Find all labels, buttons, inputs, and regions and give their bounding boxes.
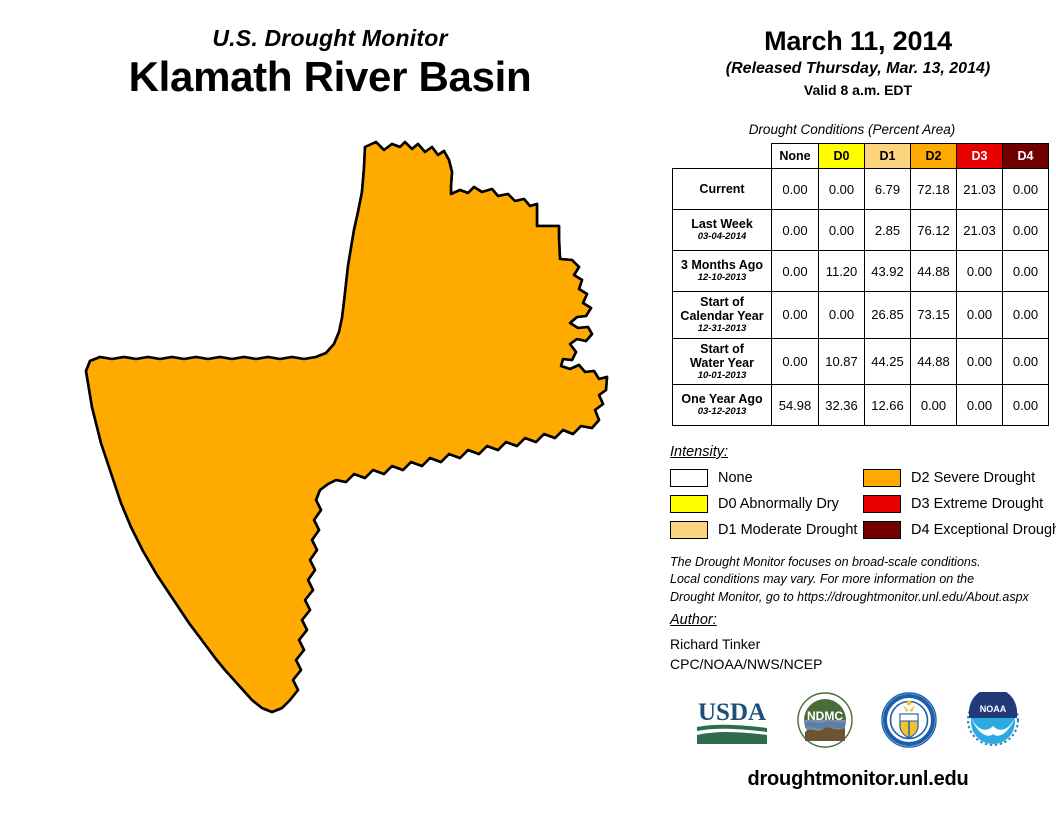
- row-label-text: 3 Months Ago: [681, 258, 763, 272]
- legend-item-d2: D2 Severe Drought: [863, 469, 1056, 487]
- swatch-d0-icon: [670, 495, 708, 513]
- legend-label-none: None: [718, 470, 753, 486]
- agency-logos: USDA NDMC: [660, 692, 1056, 748]
- row-label-text: Last Week: [691, 217, 753, 231]
- intensity-legend: None D2 Severe Drought D0 Abnormally Dry…: [670, 466, 1056, 544]
- report-date: March 11, 2014: [660, 26, 1056, 57]
- cell-3months-d1: 43.92: [865, 251, 911, 292]
- table-body: Current 0.00 0.00 6.79 72.18 21.03 0.00 …: [673, 169, 1049, 426]
- valid-time: Valid 8 a.m. EDT: [660, 82, 1056, 98]
- column-header-d3: D3: [957, 144, 1003, 169]
- row-label-date: 03-12-2013: [675, 407, 769, 418]
- legend-item-none: None: [670, 469, 863, 487]
- row-label-one-year-ago: One Year Ago 03-12-2013: [673, 385, 772, 426]
- usda-logo-icon: USDA: [695, 694, 769, 746]
- row-label-start-water-year: Start of Water Year 10-01-2013: [673, 338, 772, 385]
- cell-wateryear-d2: 44.88: [911, 338, 957, 385]
- cell-wateryear-d4: 0.00: [1003, 338, 1049, 385]
- klamath-map-render: [40, 120, 640, 730]
- cell-oneyear-none: 54.98: [772, 385, 819, 426]
- info-panel: March 11, 2014 (Released Thursday, Mar. …: [660, 0, 1056, 816]
- ndmc-logo-icon: NDMC: [797, 692, 853, 748]
- cell-current-d1: 6.79: [865, 169, 911, 210]
- table-row: Start of Calendar Year 12-31-2013 0.00 0…: [673, 292, 1049, 339]
- table-row: One Year Ago 03-12-2013 54.98 32.36 12.6…: [673, 385, 1049, 426]
- cell-calyear-d0: 0.00: [819, 292, 865, 339]
- ndmc-logo-text: NDMC: [807, 709, 843, 723]
- author-heading: Author:: [670, 612, 717, 628]
- legend-label-d3: D3 Extreme Drought: [911, 496, 1043, 512]
- row-label-3-months-ago: 3 Months Ago 12-10-2013: [673, 251, 772, 292]
- cell-oneyear-d0: 32.36: [819, 385, 865, 426]
- map-panel: U.S. Drought Monitor Klamath River Basin: [0, 0, 660, 816]
- klamath-basin-map: [40, 120, 640, 730]
- row-label-start-calendar-year: Start of Calendar Year 12-31-2013: [673, 292, 772, 339]
- row-label-current: Current: [673, 169, 772, 210]
- cell-3months-d3: 0.00: [957, 251, 1003, 292]
- row-label-last-week: Last Week 03-04-2014: [673, 210, 772, 251]
- cell-wateryear-none: 0.00: [772, 338, 819, 385]
- cell-oneyear-d2: 0.00: [911, 385, 957, 426]
- map-title-block: U.S. Drought Monitor Klamath River Basin: [0, 26, 660, 100]
- page-title: Klamath River Basin: [0, 53, 660, 100]
- cell-lastweek-none: 0.00: [772, 210, 819, 251]
- column-header-none: None: [772, 144, 819, 169]
- table-corner-cell: [673, 144, 772, 169]
- site-url[interactable]: droughtmonitor.unl.edu: [660, 768, 1056, 791]
- cell-3months-none: 0.00: [772, 251, 819, 292]
- cell-current-d2: 72.18: [911, 169, 957, 210]
- cell-lastweek-d2: 76.12: [911, 210, 957, 251]
- column-header-d4: D4: [1003, 144, 1049, 169]
- row-label-date: 10-01-2013: [675, 371, 769, 382]
- table-header: None D0 D1 D2 D3 D4: [673, 144, 1049, 169]
- legend-item-d1: D1 Moderate Drought: [670, 521, 863, 539]
- disclaimer-text: The Drought Monitor focuses on broad-sca…: [670, 554, 1050, 606]
- row-label-text: Start of Water Year: [690, 342, 754, 370]
- cell-oneyear-d3: 0.00: [957, 385, 1003, 426]
- swatch-none-icon: [670, 469, 708, 487]
- legend-label-d0: D0 Abnormally Dry: [718, 496, 839, 512]
- cell-3months-d4: 0.00: [1003, 251, 1049, 292]
- legend-label-d1: D1 Moderate Drought: [718, 522, 857, 538]
- cell-oneyear-d1: 12.66: [865, 385, 911, 426]
- legend-row: D0 Abnormally Dry D3 Extreme Drought: [670, 492, 1056, 515]
- swatch-d3-icon: [863, 495, 901, 513]
- cell-current-d0: 0.00: [819, 169, 865, 210]
- table-header-row: None D0 D1 D2 D3 D4: [673, 144, 1049, 169]
- author-block: Richard Tinker CPC/NOAA/NWS/NCEP: [670, 634, 822, 675]
- cell-wateryear-d3: 0.00: [957, 338, 1003, 385]
- legend-row: D1 Moderate Drought D4 Exceptional Droug…: [670, 518, 1056, 541]
- table-row: 3 Months Ago 12-10-2013 0.00 11.20 43.92…: [673, 251, 1049, 292]
- disclaimer-line-3: Drought Monitor, go to https://droughtmo…: [670, 589, 1050, 606]
- cell-3months-d0: 11.20: [819, 251, 865, 292]
- author-affiliation: CPC/NOAA/NWS/NCEP: [670, 654, 822, 674]
- cell-wateryear-d1: 44.25: [865, 338, 911, 385]
- legend-item-d3: D3 Extreme Drought: [863, 495, 1056, 513]
- intensity-heading: Intensity:: [670, 444, 728, 460]
- cell-lastweek-d1: 2.85: [865, 210, 911, 251]
- cell-lastweek-d4: 0.00: [1003, 210, 1049, 251]
- table-caption: Drought Conditions (Percent Area): [660, 122, 1044, 137]
- disclaimer-line-2: Local conditions may vary. For more info…: [670, 571, 1050, 588]
- cell-calyear-d2: 73.15: [911, 292, 957, 339]
- row-label-date: 03-04-2014: [675, 232, 769, 243]
- noaa-logo-text: NOAA: [980, 704, 1007, 714]
- cell-lastweek-d3: 21.03: [957, 210, 1003, 251]
- map-supertitle: U.S. Drought Monitor: [0, 26, 660, 51]
- cell-calyear-d3: 0.00: [957, 292, 1003, 339]
- swatch-d2-icon: [863, 469, 901, 487]
- cell-current-none: 0.00: [772, 169, 819, 210]
- legend-item-d4: D4 Exceptional Drought: [863, 521, 1056, 539]
- column-header-d2: D2: [911, 144, 957, 169]
- cell-current-d3: 21.03: [957, 169, 1003, 210]
- column-header-d1: D1: [865, 144, 911, 169]
- legend-item-d0: D0 Abnormally Dry: [670, 495, 863, 513]
- swatch-d4-icon: [863, 521, 901, 539]
- table-row: Last Week 03-04-2014 0.00 0.00 2.85 76.1…: [673, 210, 1049, 251]
- row-label-text: Start of Calendar Year: [680, 295, 763, 323]
- cell-wateryear-d0: 10.87: [819, 338, 865, 385]
- basin-map-svg: [40, 120, 640, 730]
- table-row: Current 0.00 0.00 6.79 72.18 21.03 0.00: [673, 169, 1049, 210]
- noaa-logo-icon: NOAA: [965, 692, 1021, 748]
- table-row: Start of Water Year 10-01-2013 0.00 10.8…: [673, 338, 1049, 385]
- cell-lastweek-d0: 0.00: [819, 210, 865, 251]
- legend-row: None D2 Severe Drought: [670, 466, 1056, 489]
- date-block: March 11, 2014 (Released Thursday, Mar. …: [660, 26, 1056, 98]
- drought-conditions-table: None D0 D1 D2 D3 D4 Current 0.00 0.00 6.…: [672, 143, 1049, 426]
- legend-label-d4: D4 Exceptional Drought: [911, 522, 1056, 538]
- cell-calyear-none: 0.00: [772, 292, 819, 339]
- cell-calyear-d4: 0.00: [1003, 292, 1049, 339]
- column-header-d0: D0: [819, 144, 865, 169]
- row-label-date: 12-31-2013: [675, 324, 769, 335]
- row-label-text: Current: [699, 182, 744, 196]
- cell-3months-d2: 44.88: [911, 251, 957, 292]
- legend-label-d2: D2 Severe Drought: [911, 470, 1035, 486]
- disclaimer-line-1: The Drought Monitor focuses on broad-sca…: [670, 554, 1050, 571]
- drought-monitor-page: U.S. Drought Monitor Klamath River Basin: [0, 0, 1056, 816]
- cell-current-d4: 0.00: [1003, 169, 1049, 210]
- row-label-text: One Year Ago: [681, 392, 762, 406]
- author-name: Richard Tinker: [670, 634, 822, 654]
- usdc-logo-icon: [881, 692, 937, 748]
- cell-oneyear-d4: 0.00: [1003, 385, 1049, 426]
- cell-calyear-d1: 26.85: [865, 292, 911, 339]
- release-date: (Released Thursday, Mar. 13, 2014): [660, 60, 1056, 78]
- row-label-date: 12-10-2013: [675, 273, 769, 284]
- swatch-d1-icon: [670, 521, 708, 539]
- usda-logo-text: USDA: [698, 699, 766, 726]
